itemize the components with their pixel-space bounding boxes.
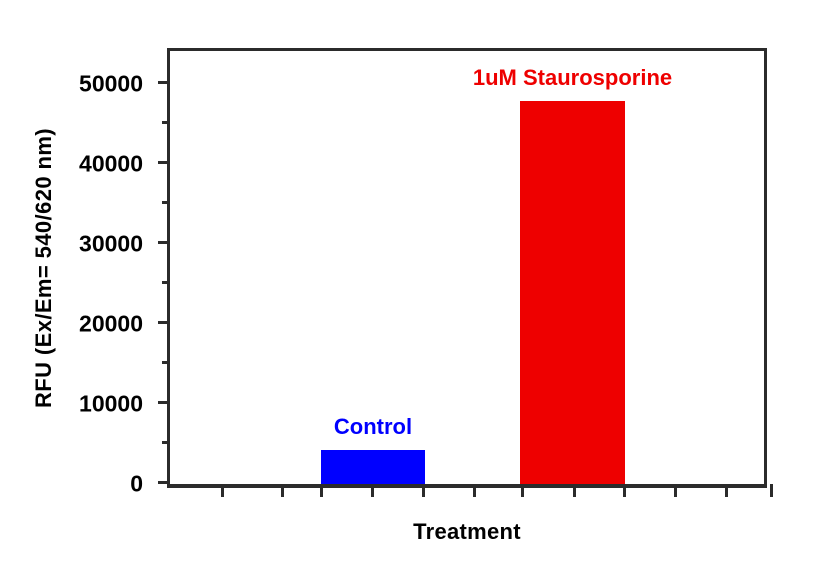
x-tick — [770, 484, 773, 497]
y-tick-minor — [162, 441, 170, 444]
x-tick — [623, 484, 626, 497]
bar-1[interactable] — [321, 450, 425, 484]
bar-chart-figure: RFU (Ex/Em= 540/620 nm) Treatment 010000… — [0, 0, 832, 566]
x-tick — [422, 484, 425, 497]
y-tick-minor — [162, 121, 170, 124]
y-tick-major: 20000 — [158, 321, 170, 324]
y-tick-major: 0 — [158, 481, 170, 484]
plot-area: 01000020000300004000050000 Control1uM St… — [167, 48, 767, 488]
y-tick-label: 20000 — [79, 313, 143, 336]
x-tick — [221, 484, 224, 497]
bar-label-2: 1uM Staurosporine — [473, 67, 672, 89]
x-tick — [473, 484, 476, 497]
y-tick-label: 30000 — [79, 233, 143, 256]
y-tick-minor — [162, 281, 170, 284]
x-tick — [281, 484, 284, 497]
y-tick-label: 10000 — [79, 393, 143, 416]
y-tick-major: 30000 — [158, 241, 170, 244]
x-axis-title: Treatment — [413, 519, 521, 545]
y-tick-label: 0 — [130, 473, 143, 496]
y-tick-minor — [162, 201, 170, 204]
bar-2[interactable] — [520, 101, 625, 484]
y-tick-label: 40000 — [79, 153, 143, 176]
x-tick — [320, 484, 323, 497]
y-tick-label: 50000 — [79, 73, 143, 96]
y-tick-major: 40000 — [158, 161, 170, 164]
y-axis-title: RFU (Ex/Em= 540/620 nm) — [31, 128, 57, 408]
x-tick — [725, 484, 728, 497]
y-tick-major: 50000 — [158, 81, 170, 84]
x-tick — [573, 484, 576, 497]
y-tick-minor — [162, 361, 170, 364]
y-tick-major: 10000 — [158, 401, 170, 404]
x-tick — [371, 484, 374, 497]
x-tick — [521, 484, 524, 497]
bar-label-1: Control — [334, 416, 412, 438]
x-tick — [674, 484, 677, 497]
